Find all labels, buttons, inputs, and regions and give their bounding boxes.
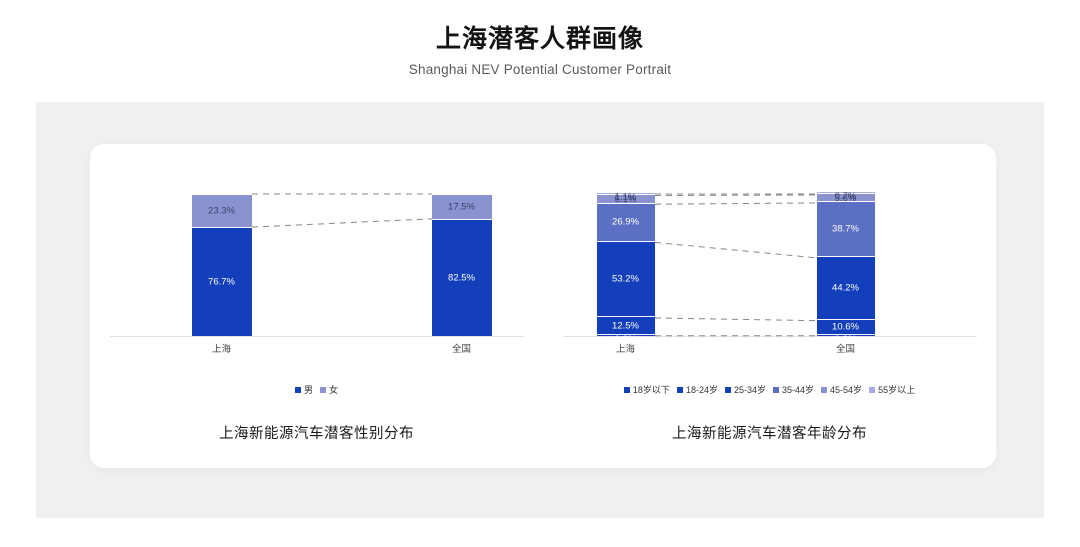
bar-segment[interactable]: 38.7% [817, 201, 875, 256]
bar-age-0[interactable]: 0.2%12.5%53.2%26.9%6.1%1.1% [597, 192, 655, 336]
xtick-gender-1: 全国 [432, 341, 492, 355]
bar-segment-label: 12.5% [597, 320, 655, 331]
chart-age: 0.2%12.5%53.2%26.9%6.1%1.1% 0.2%10.6%44.… [543, 144, 996, 468]
legend-swatch-icon [320, 387, 326, 393]
xtick-gender-0: 上海 [192, 341, 252, 355]
legend-item[interactable]: 18-24岁 [677, 383, 718, 396]
bar-segment[interactable]: 1.1% [597, 192, 655, 194]
gender-plot-area: 76.7%23.3% 82.5%17.5% 上海 全国 [102, 186, 532, 381]
bar-segment[interactable]: 0.2% [597, 334, 655, 336]
legend-swatch-icon [773, 387, 779, 393]
bar-segment-label: 10.6% [817, 321, 875, 332]
bar-segment[interactable]: 53.2% [597, 241, 655, 317]
chart-gender: 76.7%23.3% 82.5%17.5% 上海 全国 男女 上海新能源汽车潜客… [90, 144, 543, 468]
page-subtitle: Shanghai NEV Potential Customer Portrait [409, 62, 671, 77]
bar-segment[interactable]: 23.3% [192, 194, 252, 227]
bar-segment-label: 53.2% [597, 273, 655, 284]
bar-age-1[interactable]: 0.2%10.6%44.2%38.7%5.6%0.7% [817, 191, 875, 336]
page-header: 上海潜客人群画像 Shanghai NEV Potential Customer… [0, 0, 1080, 102]
age-plot-area: 0.2%12.5%53.2%26.9%6.1%1.1% 0.2%10.6%44.… [555, 186, 985, 381]
bar-gender-1[interactable]: 82.5%17.5% [432, 194, 492, 336]
legend-age: 18岁以下18-24岁25-34岁35-44岁45-54岁55岁以上 [624, 383, 915, 396]
caption-gender: 上海新能源汽车潜客性别分布 [219, 422, 414, 443]
legend-swatch-icon [295, 387, 301, 393]
legend-label: 18-24岁 [686, 383, 718, 396]
bar-segment-label: 44.2% [817, 283, 875, 294]
bar-segment-label: 0.7% [817, 191, 875, 202]
bar-segment[interactable]: 82.5% [432, 219, 492, 336]
bar-segment-label: 76.7% [192, 277, 252, 288]
bar-segment-label: 1.1% [597, 192, 655, 203]
legend-item[interactable]: 55岁以上 [869, 383, 915, 396]
bar-segment[interactable]: 0.7% [817, 191, 875, 193]
legend-item[interactable]: 45-54岁 [821, 383, 862, 396]
legend-swatch-icon [624, 387, 630, 393]
legend-label: 45-54岁 [830, 383, 862, 396]
legend-item[interactable]: 25-34岁 [725, 383, 766, 396]
bar-segment-label: 82.5% [432, 272, 492, 283]
bar-segment-label: 23.3% [192, 206, 252, 217]
bar-segment-label: 17.5% [432, 201, 492, 212]
bar-segment[interactable]: 12.5% [597, 316, 655, 334]
bar-segment[interactable]: 10.6% [817, 319, 875, 334]
legend-swatch-icon [677, 387, 683, 393]
bar-segment-label: 38.7% [817, 224, 875, 235]
xtick-age-0: 上海 [597, 341, 655, 355]
legend-item[interactable]: 女 [320, 383, 338, 396]
caption-age: 上海新能源汽车潜客年龄分布 [672, 422, 867, 443]
legend-label: 25-34岁 [734, 383, 766, 396]
charts-row: 76.7%23.3% 82.5%17.5% 上海 全国 男女 上海新能源汽车潜客… [90, 144, 996, 468]
legend-label: 女 [329, 383, 338, 396]
legend-label: 男 [304, 383, 313, 396]
legend-label: 18岁以下 [633, 383, 670, 396]
legend-swatch-icon [725, 387, 731, 393]
legend-item[interactable]: 35-44岁 [773, 383, 814, 396]
bar-segment[interactable]: 17.5% [432, 194, 492, 219]
legend-gender: 男女 [295, 383, 338, 396]
gender-axis-line [110, 336, 524, 337]
page-title: 上海潜客人群画像 [436, 22, 644, 56]
legend-item[interactable]: 18岁以下 [624, 383, 670, 396]
bar-gender-0[interactable]: 76.7%23.3% [192, 194, 252, 336]
xtick-age-1: 全国 [817, 341, 875, 355]
legend-label: 55岁以上 [878, 383, 915, 396]
legend-swatch-icon [869, 387, 875, 393]
legend-swatch-icon [821, 387, 827, 393]
bar-segment[interactable]: 76.7% [192, 227, 252, 336]
bar-segment[interactable]: 44.2% [817, 256, 875, 319]
legend-item[interactable]: 男 [295, 383, 313, 396]
bar-segment[interactable]: 26.9% [597, 203, 655, 241]
legend-label: 35-44岁 [782, 383, 814, 396]
bar-segment[interactable]: 0.2% [817, 334, 875, 336]
bar-segment-label: 26.9% [597, 217, 655, 228]
